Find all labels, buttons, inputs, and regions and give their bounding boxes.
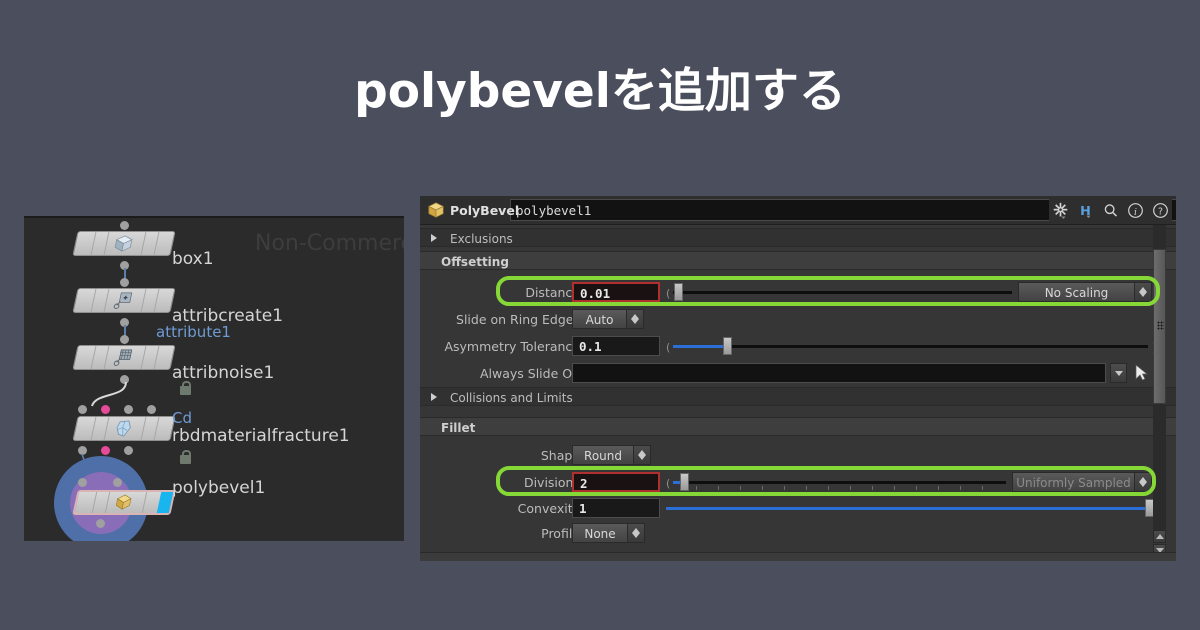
node-input-dot[interactable]: [120, 335, 129, 344]
node-stripe: [91, 346, 97, 369]
node-label-box1: box1: [172, 249, 214, 269]
param-label-always-slide-on: Always Slide On: [480, 366, 580, 381]
slider-track: [673, 345, 1148, 348]
divisions-sampling-menu[interactable]: Uniformly Sampled: [1012, 472, 1152, 492]
section-label: Offsetting: [441, 255, 509, 269]
help-icon[interactable]: ?: [1152, 202, 1169, 219]
node-output-dot[interactable]: [96, 519, 105, 528]
distance-value: 0.01: [580, 286, 610, 301]
search-icon[interactable]: [1102, 202, 1119, 219]
polybevel-op-icon: [427, 201, 445, 219]
spinner-arrows[interactable]: [1134, 283, 1151, 301]
convexity-input[interactable]: 1: [572, 498, 660, 518]
asymmetry-tolerance-value: 0.1: [579, 339, 602, 354]
param-row-divisions: Divisions 2 ( Uniformly Sampled: [420, 470, 1176, 494]
section-fillet[interactable]: Fillet: [420, 417, 1176, 436]
node-rbdmaterialfracture1[interactable]: [72, 416, 175, 441]
node-stripe: [154, 417, 160, 440]
node-stripe: [154, 232, 160, 255]
slider-fill: [666, 507, 1146, 510]
operator-type-label: PolyBevel: [450, 203, 519, 218]
node-stripe: [141, 289, 147, 312]
node-label-rbdmaterialfracture1: rbdmaterialfracture1: [172, 426, 350, 446]
node-sublabel-cd: Cd: [172, 409, 192, 427]
panel-bottom-strip: [420, 552, 1176, 561]
spinner-arrows[interactable]: [633, 446, 650, 464]
attribcreate-node-icon: [112, 291, 135, 310]
node-attribcreate1[interactable]: [72, 288, 175, 313]
section-label: Exclusions: [450, 232, 513, 246]
node-stripe: [91, 232, 97, 255]
info-icon[interactable]: i: [1127, 202, 1144, 219]
divisions-value: 2: [580, 476, 588, 491]
vertical-scrollbar-thumb[interactable]: [1153, 249, 1166, 404]
node-box1[interactable]: [72, 231, 175, 256]
slider-track: [673, 291, 1012, 294]
divisions-slider[interactable]: (: [666, 472, 1006, 492]
node-attribnoise1[interactable]: [72, 345, 175, 370]
distance-scaling-menu[interactable]: No Scaling: [1018, 282, 1152, 302]
pointer-picker-icon[interactable]: [1134, 364, 1148, 381]
node-stripe: [104, 417, 110, 440]
vertical-scrollbar[interactable]: [1153, 225, 1166, 530]
chevron-up-icon: [1156, 534, 1164, 539]
section-exclusions[interactable]: Exclusions: [420, 228, 1176, 247]
spinner-arrows[interactable]: [627, 524, 644, 542]
node-input-dot[interactable]: [120, 278, 129, 287]
slide-on-ring-edges-menu[interactable]: Auto: [572, 309, 644, 329]
slider-fill: [673, 345, 725, 348]
convexity-value: 1: [579, 501, 587, 516]
profile-value: None: [573, 527, 627, 541]
shape-value: Round: [573, 449, 633, 463]
shape-menu[interactable]: Round: [572, 445, 651, 465]
parameter-panel[interactable]: PolyBevel polybevel1 H i: [420, 196, 1176, 561]
node-stripe: [105, 492, 110, 513]
svg-text:i: i: [1134, 206, 1137, 217]
node-stripe: [104, 232, 110, 255]
node-label-attribnoise1: attribnoise1: [172, 363, 274, 383]
rbdmaterialfracture-node-icon: [112, 419, 135, 438]
param-row-profile: Profile None: [420, 521, 1176, 545]
node-output-dot[interactable]: [120, 221, 129, 230]
spinner-arrows[interactable]: [1134, 473, 1151, 491]
node-sublabel-attribute1: attribute1: [156, 323, 231, 341]
houdini-h-icon[interactable]: H: [1077, 202, 1094, 219]
operator-name-value[interactable]: polybevel1: [516, 203, 591, 218]
node-display-flag[interactable]: [157, 492, 173, 513]
header-icon-group: H i ?: [1049, 199, 1172, 221]
divisions-sampling-value: Uniformly Sampled: [1013, 476, 1134, 490]
slider-ticks: [666, 486, 1006, 490]
node-stripe: [141, 417, 147, 440]
distance-input[interactable]: 0.01: [572, 282, 660, 302]
always-slide-on-input[interactable]: [572, 363, 1106, 383]
node-input-dot[interactable]: [78, 478, 87, 487]
slider-handle[interactable]: [723, 337, 732, 355]
section-label: Fillet: [441, 421, 475, 435]
chevron-down-icon: [1115, 371, 1123, 376]
node-graph-top-border: [24, 216, 404, 218]
node-output-dot[interactable]: [124, 446, 133, 455]
node-stripe: [91, 289, 97, 312]
slider-track: [673, 481, 1006, 484]
param-row-shape: Shape Round: [420, 443, 1176, 467]
asymmetry-tolerance-slider[interactable]: ( ): [666, 336, 1156, 356]
page-title: polybevelを追加する: [0, 62, 1200, 122]
node-label-polybevel1: polybevel1: [172, 478, 265, 498]
section-collisions-and-limits[interactable]: Collisions and Limits: [420, 387, 1176, 406]
node-stripe: [104, 346, 110, 369]
slider-handle[interactable]: [674, 283, 683, 301]
spinner-arrows[interactable]: [626, 310, 643, 328]
slide-on-ring-edges-value: Auto: [573, 313, 626, 327]
node-input-dot-pink[interactable]: [101, 405, 110, 414]
polybevel-node-icon: [112, 493, 135, 512]
param-row-always-slide-on: Always Slide On: [420, 361, 1176, 385]
lock-icon: [180, 455, 191, 464]
slider-left-cap: (: [666, 341, 670, 354]
box-node-icon: [112, 234, 135, 253]
section-offsetting[interactable]: Offsetting: [420, 251, 1176, 270]
convexity-slider[interactable]: [666, 498, 1154, 518]
svg-text:?: ?: [1158, 206, 1163, 217]
node-stripe: [141, 232, 147, 255]
param-row-slide-on-ring-edges: Slide on Ring Edges Auto: [420, 307, 1176, 331]
param-label-slide-on-ring-edges: Slide on Ring Edges: [456, 312, 580, 327]
always-slide-on-dropdown-button[interactable]: [1110, 363, 1127, 383]
slider-left-cap: (: [666, 287, 670, 300]
node-stripe: [141, 346, 147, 369]
distance-scaling-value: No Scaling: [1019, 286, 1134, 300]
node-stripe: [154, 346, 160, 369]
node-input-dot[interactable]: [124, 405, 133, 414]
distance-slider[interactable]: (: [666, 282, 1012, 302]
param-row-distance: Distance 0.01 ( No Scaling: [420, 280, 1176, 304]
scrollbar-grip-dots: [1157, 321, 1164, 330]
scroll-up-button[interactable]: [1153, 530, 1166, 543]
node-input-dot[interactable]: [78, 405, 87, 414]
param-label-asymmetry-tolerance: Asymmetry Tolerance: [444, 339, 580, 354]
attribnoise-node-icon: [112, 348, 135, 367]
section-label: Collisions and Limits: [450, 391, 573, 405]
param-row-asymmetry-tolerance: Asymmetry Tolerance 0.1 ( ): [420, 334, 1176, 358]
node-stripe: [154, 289, 160, 312]
divisions-input[interactable]: 2: [572, 472, 660, 492]
chevron-right-icon: [431, 393, 437, 401]
profile-menu[interactable]: None: [572, 523, 645, 543]
param-row-convexity: Convexity 1: [420, 496, 1176, 520]
node-graph-panel[interactable]: box1 attribcreate1 attribute1 attribnois: [24, 216, 404, 541]
gear-icon[interactable]: [1052, 202, 1069, 219]
node-stripe: [104, 289, 110, 312]
lock-icon: [180, 386, 191, 395]
node-polybevel1[interactable]: [72, 490, 175, 515]
node-stripe: [91, 417, 97, 440]
non-commercial-watermark: Non-Commerc: [255, 231, 404, 256]
param-label-convexity: Convexity: [518, 501, 580, 516]
node-input-dot[interactable]: [147, 405, 156, 414]
asymmetry-tolerance-input[interactable]: 0.1: [572, 336, 660, 356]
node-stripe: [142, 492, 147, 513]
node-input-dot[interactable]: [113, 478, 122, 487]
node-stripe: [92, 492, 97, 513]
chevron-right-icon: [431, 234, 437, 242]
